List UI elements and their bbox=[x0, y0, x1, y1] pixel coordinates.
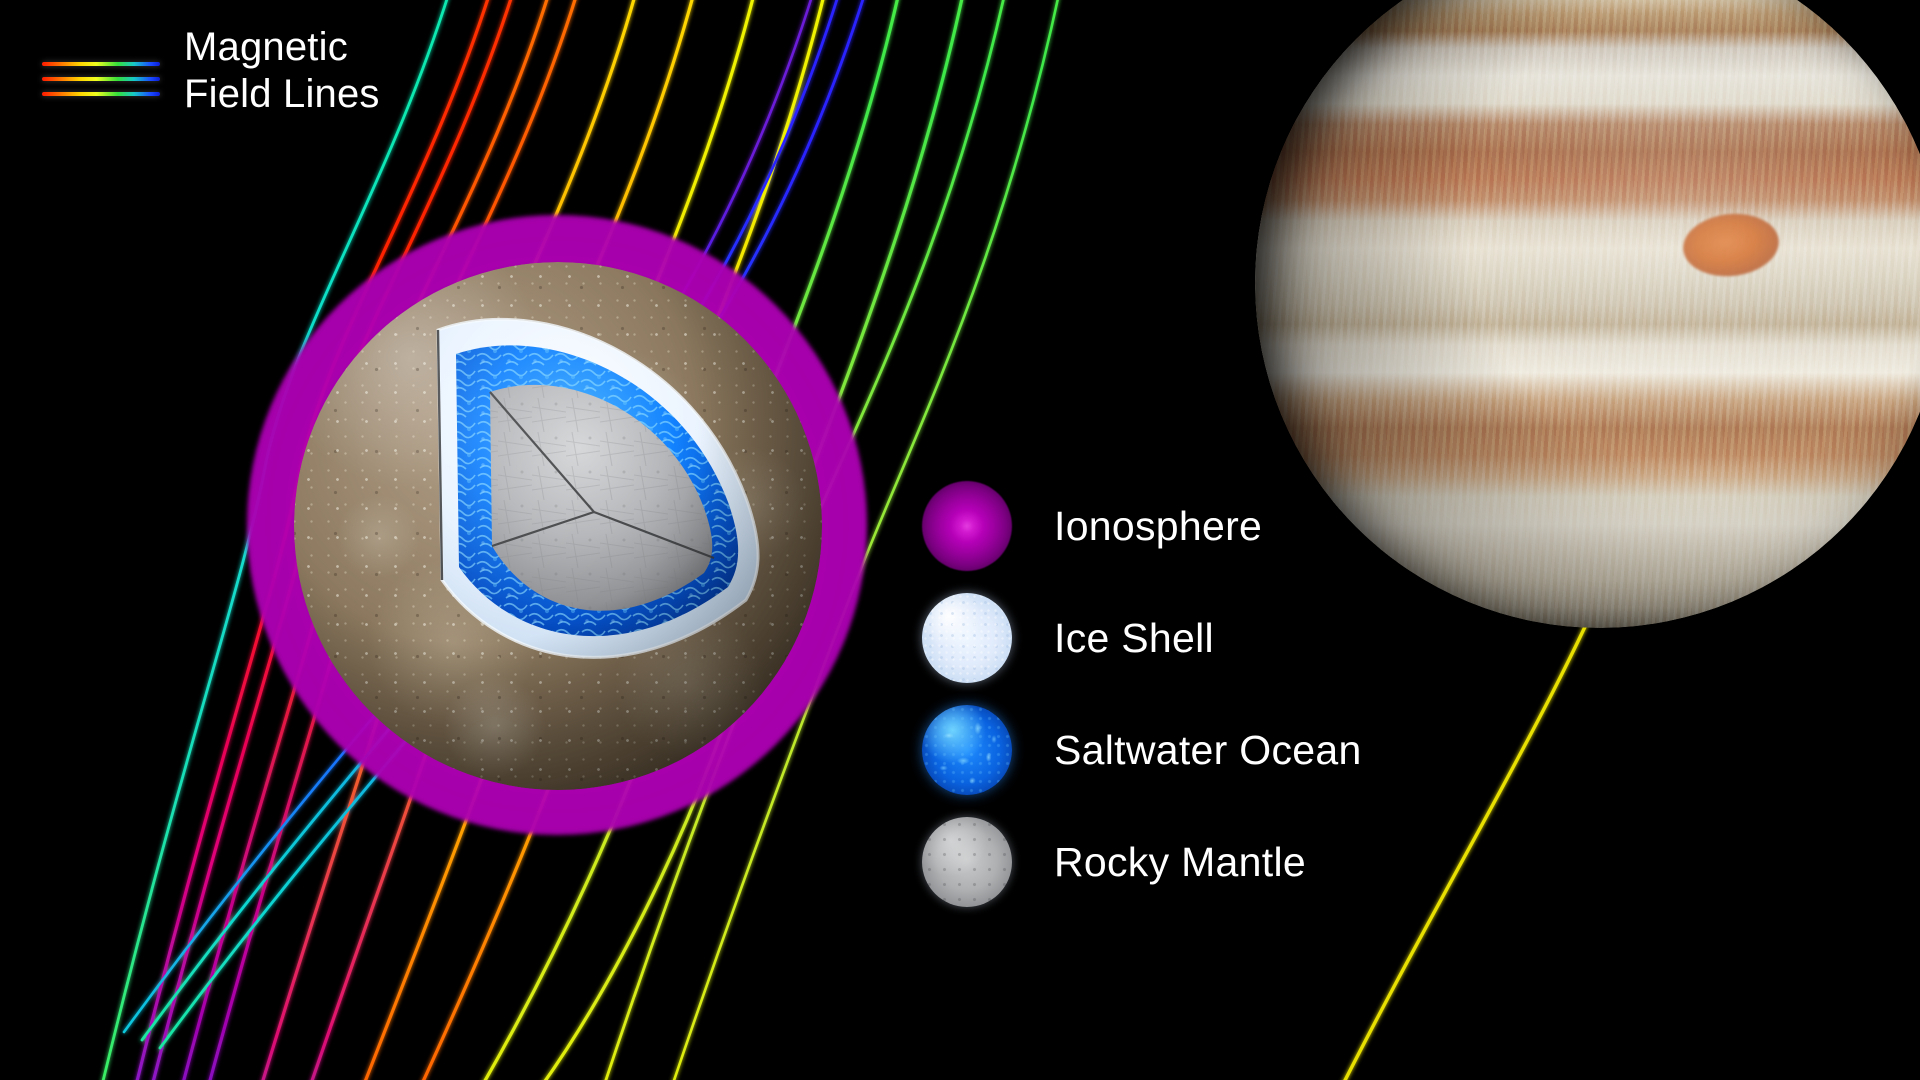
saltwater-ocean-swatch-icon bbox=[922, 705, 1012, 795]
illustration-canvas: Ionosphere Ice Shell Saltwater Ocean Roc… bbox=[0, 0, 1920, 1080]
moon-shading-overlay bbox=[294, 262, 822, 790]
ionosphere-swatch-icon bbox=[922, 481, 1012, 571]
icy-moon-cutaway bbox=[294, 262, 822, 790]
legend-label-ice-shell: Ice Shell bbox=[1054, 615, 1214, 662]
magnetic-field-lines-icon bbox=[42, 24, 162, 112]
rocky-mantle-swatch-icon bbox=[922, 817, 1012, 907]
legend-item-saltwater-ocean[interactable]: Saltwater Ocean bbox=[922, 694, 1482, 806]
ice-shell-swatch-icon bbox=[922, 593, 1012, 683]
legend-item-ice-shell[interactable]: Ice Shell bbox=[922, 582, 1482, 694]
legend-label-saltwater-ocean: Saltwater Ocean bbox=[1054, 727, 1362, 774]
field-line-bar bbox=[42, 92, 160, 96]
legend-item-rocky-mantle[interactable]: Rocky Mantle bbox=[922, 806, 1482, 918]
magnetic-field-lines-title: Magnetic Field Lines bbox=[184, 24, 380, 118]
magnetic-field-lines-legend: Magnetic Field Lines bbox=[42, 24, 380, 118]
field-line-bar bbox=[42, 77, 160, 81]
legend-label-rocky-mantle: Rocky Mantle bbox=[1054, 839, 1306, 886]
legend-label-ionosphere: Ionosphere bbox=[1054, 503, 1262, 550]
field-line-bar bbox=[42, 62, 160, 66]
